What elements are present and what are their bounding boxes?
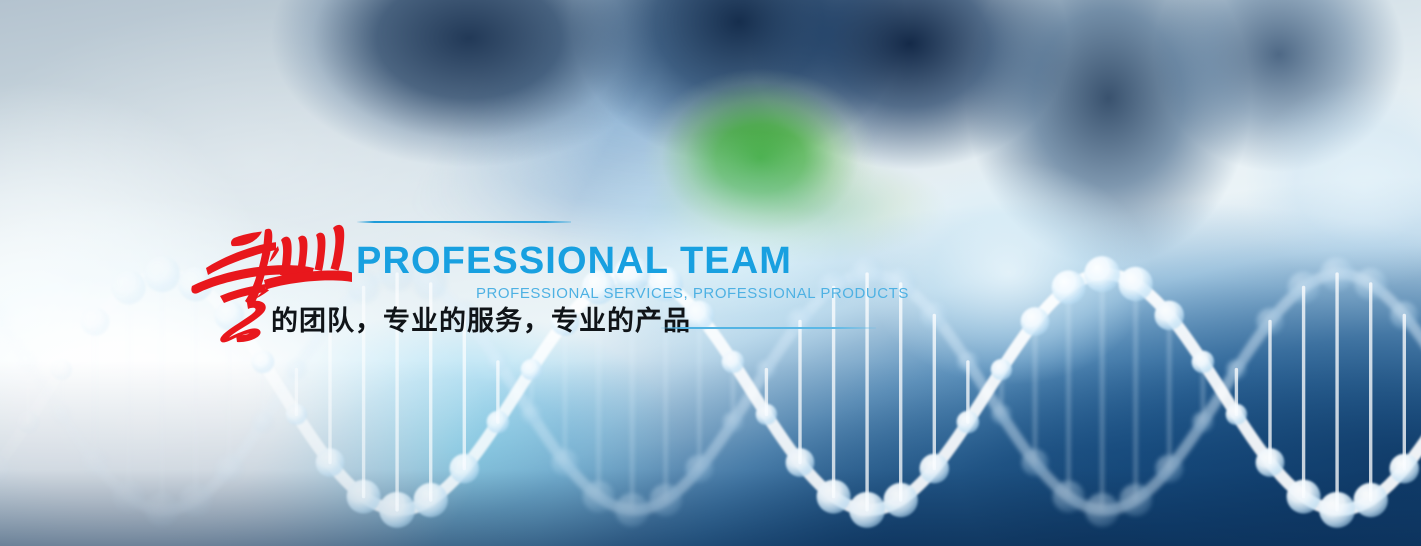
chinese-tagline: 的团队，专业的服务，专业的产品 [271,305,691,339]
banner-text-block: PROFESSIONAL TEAM PROFESSIONAL SERVICES,… [0,0,1421,546]
subheadline-services-products: PROFESSIONAL SERVICES, PROFESSIONAL PROD… [476,285,909,303]
divider-line-bottom [661,327,876,329]
divider-line-top [357,221,571,223]
headline-professional-team: PROFESSIONAL TEAM [356,240,792,282]
hero-banner: PROFESSIONAL TEAM PROFESSIONAL SERVICES,… [0,0,1421,546]
